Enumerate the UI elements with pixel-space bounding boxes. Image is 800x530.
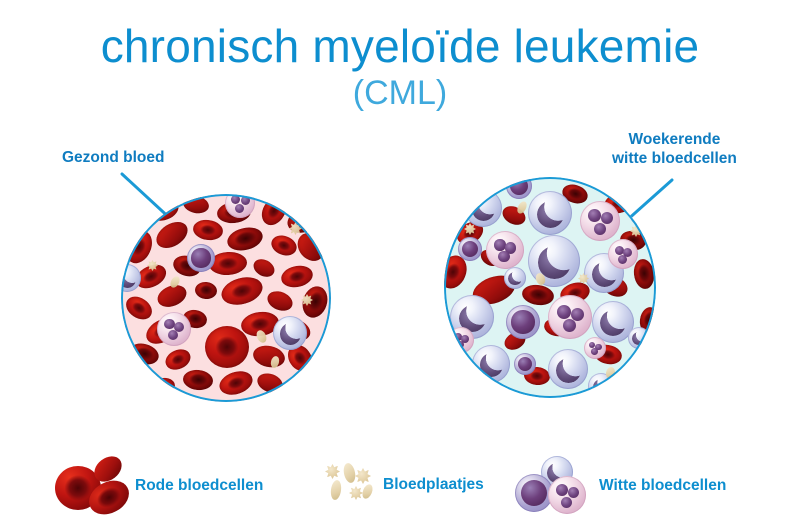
red-blood-cell: [279, 263, 315, 290]
red-blood-cell: [150, 376, 177, 397]
legend-item-platelets: Bloedplaatjes: [325, 462, 484, 508]
callout-label-healthy: Gezond bloed: [62, 148, 164, 167]
healthy-blood-sample: [121, 194, 331, 402]
platelet: [630, 225, 642, 237]
white-blood-cell: [528, 191, 572, 235]
cml-cell-field: [444, 177, 656, 398]
platelet: [301, 294, 313, 306]
white-blood-cell: [273, 316, 307, 350]
red-blood-cell: [216, 367, 255, 398]
cml-blood-sample: [444, 177, 656, 398]
red-blood-cell: [205, 326, 249, 368]
callout-label-cml: Woekerende witte bloedcellen: [612, 130, 737, 168]
white-blood-cell: [580, 201, 620, 241]
callout-label-cml-line1: Woekerende: [612, 130, 737, 149]
white-blood-cell: [628, 327, 650, 349]
callout-label-cml-line2: witte bloedcellen: [612, 149, 737, 168]
red-blood-cell: [121, 227, 157, 268]
red-blood-cell: [122, 292, 156, 324]
red-blood-cell: [218, 273, 266, 310]
red-blood-cell: [192, 218, 224, 242]
white-blood-cell-icon: [515, 456, 593, 516]
platelet: [515, 200, 528, 215]
legend-item-red-blood-cells: Rode bloedcellen: [55, 458, 263, 514]
red-blood-cell: [146, 195, 181, 224]
legend-label-red-blood-cells: Rode bloedcellen: [135, 477, 263, 495]
platelet: [464, 223, 476, 235]
red-blood-cell: [255, 370, 286, 396]
white-blood-cell: [225, 194, 255, 218]
healthy-cell-field: [121, 194, 331, 402]
red-blood-cell: [162, 346, 193, 374]
white-blood-cell: [506, 177, 532, 199]
white-blood-cell: [630, 205, 650, 225]
red-blood-cell: [194, 281, 218, 300]
white-blood-cell: [514, 353, 536, 375]
page-title: chronisch myeloïde leukemie: [0, 18, 800, 74]
white-blood-cell: [187, 244, 215, 272]
red-blood-cell: [251, 256, 278, 280]
white-blood-cell: [464, 189, 502, 227]
white-blood-cell: [121, 264, 141, 292]
platelet: [605, 366, 616, 380]
infographic-canvas: chronisch myeloïde leukemie (CML) Gezond…: [0, 0, 800, 530]
red-blood-cell: [265, 288, 296, 314]
title-block: chronisch myeloïde leukemie (CML): [0, 18, 800, 114]
red-blood-cell: [152, 217, 192, 254]
legend-label-platelets: Bloedplaatjes: [383, 476, 484, 494]
white-blood-cell: [584, 337, 606, 359]
red-blood-cell: [269, 232, 300, 259]
platelet: [289, 222, 302, 235]
white-blood-cell: [458, 237, 482, 261]
platelet-icon: [325, 462, 377, 508]
red-blood-cell: [620, 360, 648, 384]
red-blood-cell-icon: [55, 458, 133, 514]
platelet: [147, 260, 158, 271]
red-blood-cell: [182, 368, 214, 391]
red-blood-cell: [257, 194, 291, 229]
white-blood-cell: [548, 349, 588, 389]
red-blood-cell: [225, 224, 265, 254]
white-blood-cell: [504, 267, 526, 289]
white-blood-cell: [548, 295, 592, 339]
red-blood-cell: [292, 228, 330, 266]
legend-label-white-blood-cells: Witte bloedcellen: [599, 477, 726, 495]
platelet: [578, 273, 589, 284]
white-blood-cell: [486, 231, 524, 269]
red-blood-cell: [182, 194, 211, 216]
white-blood-cell: [506, 305, 540, 339]
white-blood-cell: [608, 239, 638, 269]
page-subtitle: (CML): [0, 72, 800, 114]
red-blood-cell: [127, 340, 161, 367]
red-blood-cell: [284, 203, 326, 237]
white-blood-cell: [157, 312, 191, 346]
white-blood-cell: [448, 327, 474, 353]
legend: Rode bloedcellen Bloedplaatjes: [0, 452, 800, 524]
red-blood-cell: [632, 258, 656, 290]
white-blood-cell: [472, 345, 510, 383]
legend-item-white-blood-cells: Witte bloedcellen: [515, 456, 726, 516]
